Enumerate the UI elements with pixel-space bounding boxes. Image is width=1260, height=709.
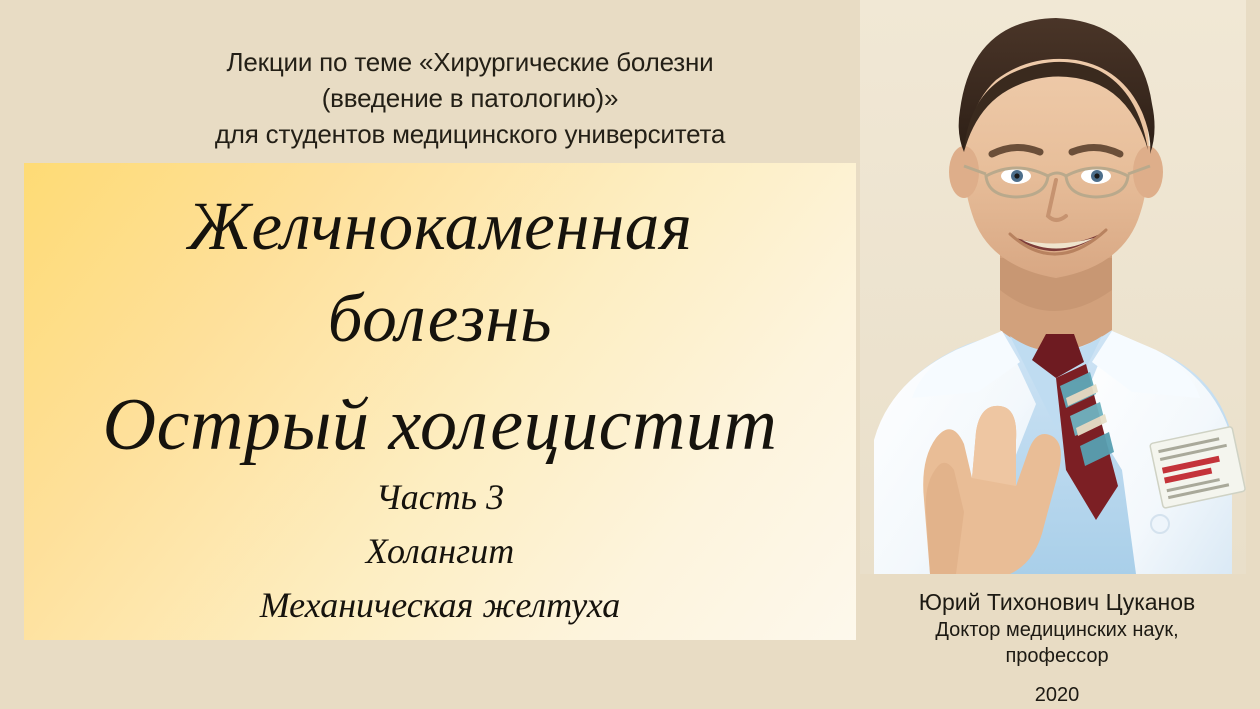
subtitle-line-3: Механическая желтуха xyxy=(24,584,856,626)
portrait-photo xyxy=(860,0,1246,574)
author-name: Юрий Тихонович Цуканов xyxy=(862,588,1252,617)
title-line-2: болезнь xyxy=(24,279,856,358)
lecture-header: Лекции по теме «Хирургические болезни (в… xyxy=(150,44,790,152)
subtitle-line-1: Часть 3 xyxy=(24,476,856,518)
slide-canvas: Лекции по теме «Хирургические болезни (в… xyxy=(0,0,1260,709)
lecture-header-line-1: Лекции по теме «Хирургические болезни xyxy=(150,44,790,80)
title-card: Желчнокаменная болезнь Острый холецистит… xyxy=(24,163,856,640)
title-line-3: Острый холецистит xyxy=(24,383,856,468)
author-credit: Юрий Тихонович Цуканов Доктор медицински… xyxy=(862,588,1252,708)
author-degree-line-1: Доктор медицинских наук, xyxy=(862,617,1252,643)
portrait-illustration xyxy=(860,0,1246,574)
presentation-year: 2020 xyxy=(862,682,1252,708)
author-degree-line-2: профессор xyxy=(862,643,1252,669)
lecture-header-line-3: для студентов медицинского университета xyxy=(150,116,790,152)
lecture-header-line-2: (введение в патологию)» xyxy=(150,80,790,116)
title-line-1: Желчнокаменная xyxy=(24,187,856,266)
subtitle-line-2: Холангит xyxy=(24,530,856,572)
